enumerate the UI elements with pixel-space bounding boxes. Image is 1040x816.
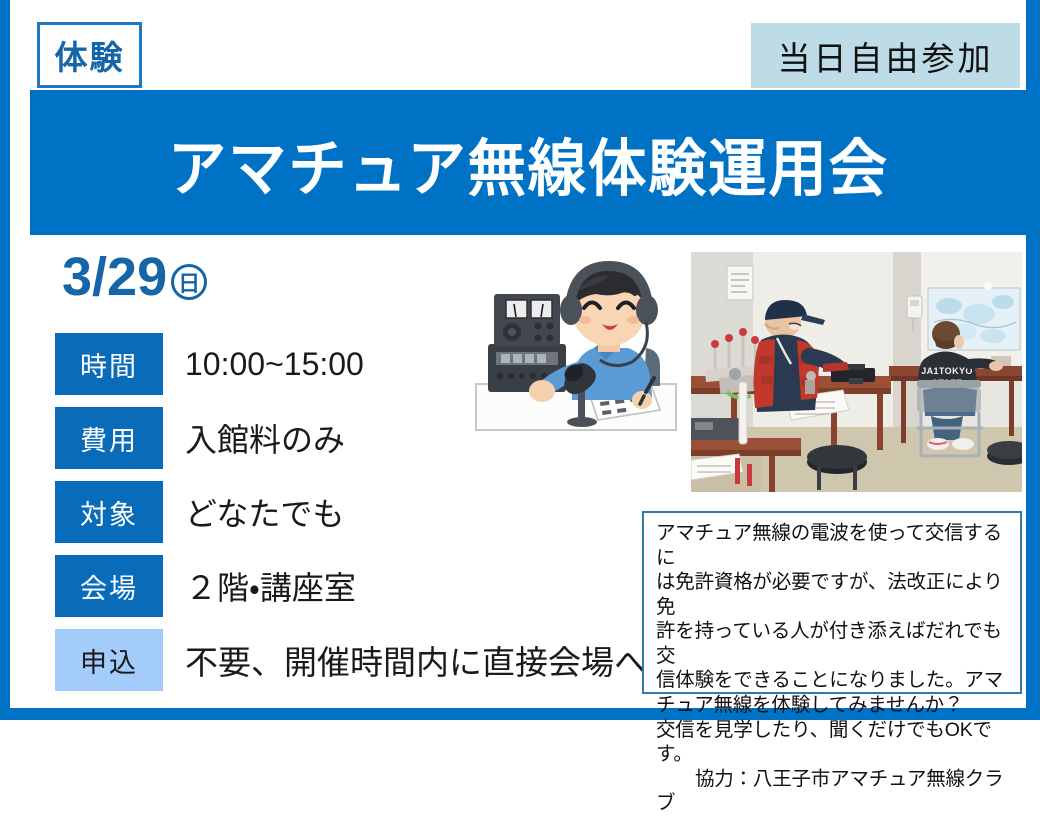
info-row-audience: 対象 どなたでも (55, 481, 647, 543)
info-label-venue: 会場 (55, 555, 163, 617)
info-label-time: 時間 (55, 333, 163, 395)
info-row-venue: 会場 ２階・講座室 (55, 555, 647, 617)
category-badge: 体験 (37, 22, 142, 88)
poster-root: 体験 当日自由参加 アマチュア無線体験運用会 3/29 日 時間 10:00~1… (0, 0, 1040, 720)
title-bar: アマチュア無線体験運用会 (30, 90, 1026, 235)
category-badge-label: 体験 (55, 31, 125, 79)
info-value-time: 10:00~15:00 (185, 346, 364, 383)
info-value-audience: どなたでも (185, 489, 344, 535)
info-value-fee: 入館料のみ (185, 415, 345, 461)
event-date: 3/29 日 (62, 246, 207, 308)
description-line-6: 交信を見学したり、聞くだけでもOKです。 (656, 718, 1014, 767)
description-line-3: 許を持っている人が付き添えばだれでも交 (656, 619, 1014, 668)
info-row-application: 申込 不要、開催時間内に直接会場へ (55, 629, 647, 691)
description-credit: 協力：八王子市アマチュア無線クラブ (656, 767, 1014, 816)
info-value-venue: ２階・講座室 (185, 563, 356, 609)
staff-shirt-line1: JA1TOKYO (921, 366, 973, 376)
radio-room-photo-svg: JA1TOKYO STAFF (691, 252, 1022, 492)
radio-operator-illustration (470, 252, 692, 444)
description-line-2: は免許資格が必要ですが、法改正により免 (656, 570, 1014, 619)
info-label-audience: 対象 (55, 481, 163, 543)
radio-room-photo: JA1TOKYO STAFF (691, 252, 1022, 492)
radio-operator-svg (470, 252, 692, 444)
description-box: アマチュア無線の電波を使って交信するに は免許資格が必要ですが、法改正により免 … (642, 511, 1022, 694)
info-label-application: 申込 (55, 629, 163, 691)
description-line-5: チュア無線を体験してみませんか？ (656, 693, 1014, 718)
description-line-1: アマチュア無線の電波を使って交信するに (656, 521, 1014, 570)
walkin-badge-label: 当日自由参加 (778, 32, 994, 80)
event-weekday-badge: 日 (171, 264, 207, 300)
description-line-4: 信体験をできることになりました。アマ (656, 668, 1014, 693)
event-date-value: 3/29 (62, 246, 167, 308)
info-value-application: 不要、開催時間内に直接会場へ (185, 636, 647, 684)
page-title: アマチュア無線体験運用会 (168, 118, 889, 208)
info-label-fee: 費用 (55, 407, 163, 469)
walkin-badge: 当日自由参加 (751, 23, 1020, 88)
